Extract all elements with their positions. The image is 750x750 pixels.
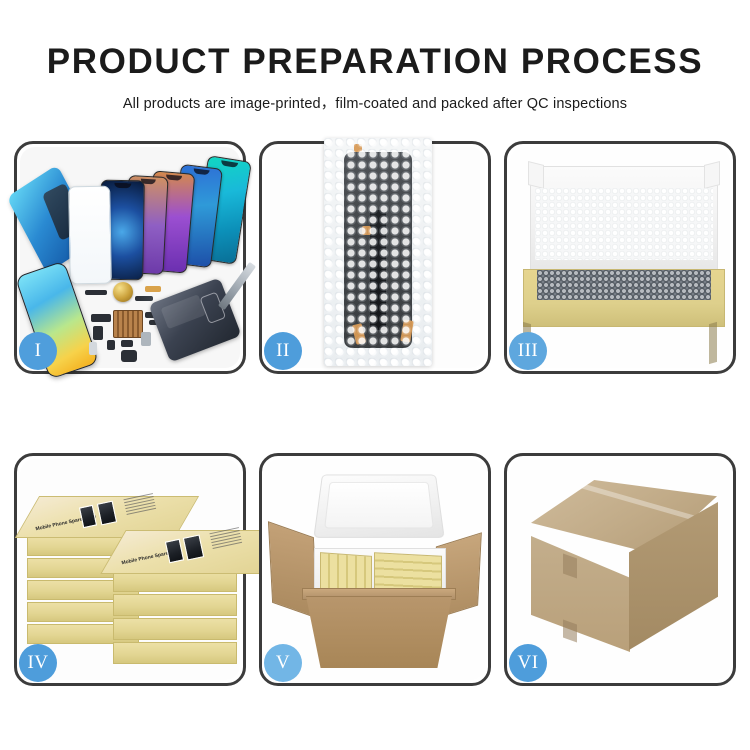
spare-part-camera-ring (121, 340, 133, 347)
spare-part-metal-shield (141, 332, 151, 346)
spare-part-amber-flex (145, 286, 161, 292)
retail-box-stack: Mobile Phone Spare Parts Mobile Phone Sp… (21, 474, 245, 674)
step-panel-2: II (259, 141, 491, 374)
chip-array-part (113, 310, 143, 338)
spare-part-sim-tray (89, 342, 97, 355)
step-badge-1: I (19, 332, 57, 370)
stacked-box (113, 594, 237, 616)
spare-part-screw-block (107, 340, 115, 350)
step-numeral: V (276, 652, 290, 674)
step-badge-6: VI (509, 644, 547, 682)
step-badge-2: II (264, 332, 302, 370)
styrofoam-lid (313, 475, 444, 538)
spare-part-flex-cable (135, 296, 153, 301)
step-badge-5: V (264, 644, 302, 682)
gold-speaker-part (113, 282, 133, 302)
bubble-texture-overlay (324, 138, 432, 366)
stacked-box (113, 618, 237, 640)
step-panel-1: I (14, 141, 246, 374)
bubble-wrap-bag (324, 138, 432, 366)
white-foam-sheet (535, 188, 713, 260)
stacked-box (113, 642, 237, 664)
grey-bubble-wrap-inside (537, 270, 711, 300)
step-numeral: I (35, 340, 42, 362)
tempered-glass-protector (68, 186, 112, 285)
step-numeral: II (276, 340, 290, 362)
phone-screen-fan (69, 158, 244, 278)
spare-part-strip (85, 290, 107, 295)
step-badge-4: IV (19, 644, 57, 682)
carton-front-face (531, 536, 630, 652)
spare-part-connector (93, 326, 103, 340)
step-panel-4: Mobile Phone Spare Parts Mobile Phone Sp… (14, 453, 246, 686)
page-subtitle: All products are image-printed，film-coat… (0, 79, 750, 113)
step-badge-3: III (509, 332, 547, 370)
step-panel-5: V (259, 453, 491, 686)
product-preparation-infographic: PRODUCT PREPARATION PROCESS All products… (0, 0, 750, 750)
page-title: PRODUCT PREPARATION PROCESS (0, 0, 750, 79)
carton-body (306, 596, 452, 668)
step-numeral: IV (27, 652, 48, 674)
box-corner-right (709, 322, 717, 364)
process-step-grid: I II (14, 141, 736, 686)
spare-part-speaker-box (121, 350, 137, 362)
step-numeral: III (518, 340, 538, 362)
carton-tape-tab-lower (563, 619, 577, 642)
step-numeral: VI (517, 652, 538, 674)
step-panel-3: III (504, 141, 736, 374)
step-panel-6: VI (504, 453, 736, 686)
spare-part-bracket (91, 314, 111, 322)
header: PRODUCT PREPARATION PROCESS All products… (0, 0, 750, 113)
